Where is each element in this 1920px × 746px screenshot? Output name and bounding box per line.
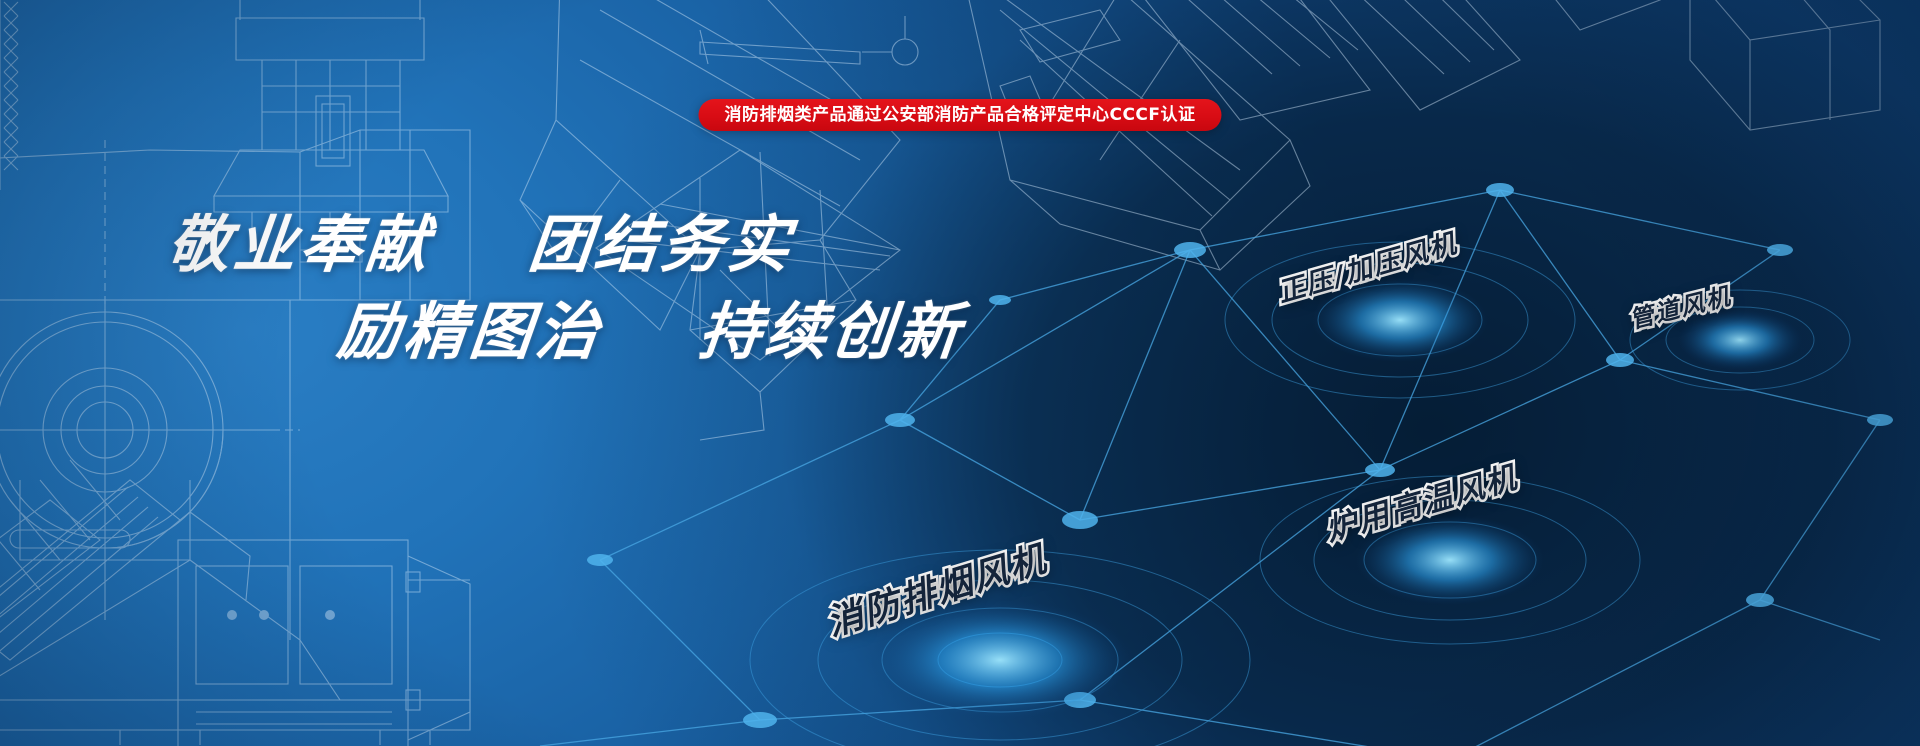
product-label-positive-pressure-fan[interactable]: 正压/加压风机	[1272, 221, 1461, 310]
product-label-fire-smoke-exhaust-fan[interactable]: 消防排烟风机	[819, 530, 1052, 646]
slogan-line2-part1: 励精图治	[334, 295, 606, 368]
certification-text: 消防排烟类产品通过公安部消防产品合格评定中心CCCF认证	[724, 107, 1195, 124]
product-label-furnace-high-temp-fan[interactable]: 炉用高温风机	[1320, 452, 1523, 550]
certification-badge: 消防排烟类产品通过公安部消防产品合格评定中心CCCF认证	[698, 99, 1221, 131]
product-label-duct-fan[interactable]: 管道风机	[1625, 276, 1734, 335]
slogan-line1-part1: 敬业奉献	[164, 208, 436, 281]
slogan-line-2: 励精图治 持续创新	[335, 299, 904, 364]
slogan-block: 敬业奉献 团结务实 励精图治 持续创新	[0, 212, 900, 364]
slogan-line-1: 敬业奉献 团结务实	[165, 212, 904, 277]
slogan-line2-part2: 持续创新	[695, 295, 967, 368]
hero-banner: 消防排烟类产品通过公安部消防产品合格评定中心CCCF认证 敬业奉献 团结务实 励…	[0, 0, 1920, 746]
slogan-line1-part2: 团结务实	[525, 208, 797, 281]
